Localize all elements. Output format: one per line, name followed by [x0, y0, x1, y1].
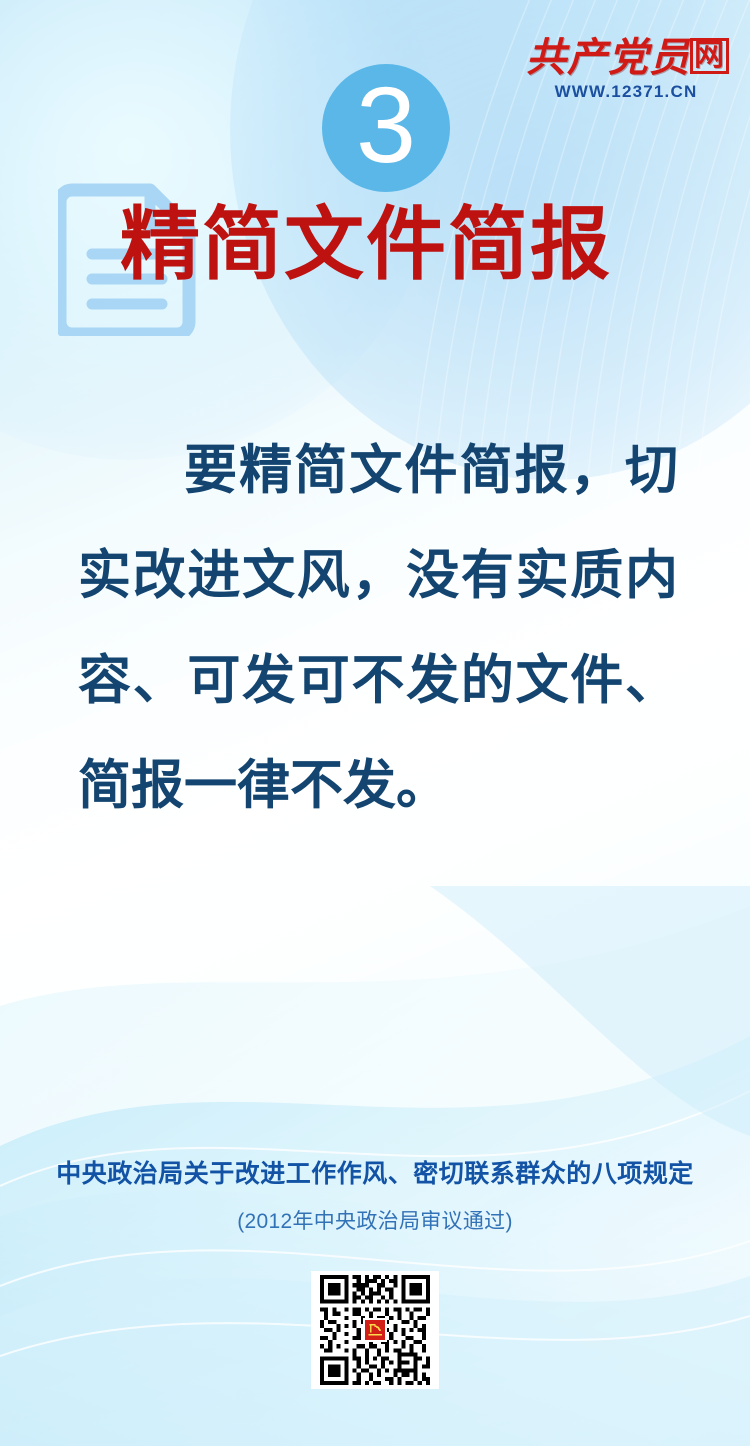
site-logo-url: WWW.12371.CN	[526, 82, 726, 102]
qr-code[interactable]	[311, 1271, 439, 1389]
site-logo-characters: 共产党员	[526, 35, 690, 80]
body-paragraph: 要精简文件简报，切实改进文风，没有实质内容、可发可不发的文件、简报一律不发。	[78, 418, 678, 838]
section-number-badge: 3	[322, 64, 450, 192]
site-logo-boxed-character: 网	[690, 38, 729, 74]
section-number: 3	[356, 71, 416, 179]
site-logo[interactable]: 共产党员网 WWW.12371.CN	[526, 38, 726, 102]
page-title: 精简文件简报	[120, 205, 612, 285]
footer-regulation-title: 中央政治局关于改进工作作风、密切联系群众的八项规定	[0, 1154, 750, 1190]
footer-regulation-subtitle: (2012年中央政治局审议通过)	[0, 1205, 750, 1235]
party-emblem-icon	[363, 1318, 387, 1342]
poster-root: 共产党员网 WWW.12371.CN 3 精简文件简报 要精简文件简报，切实改进…	[0, 0, 750, 1446]
site-logo-wordmark: 共产党员网	[526, 38, 726, 78]
